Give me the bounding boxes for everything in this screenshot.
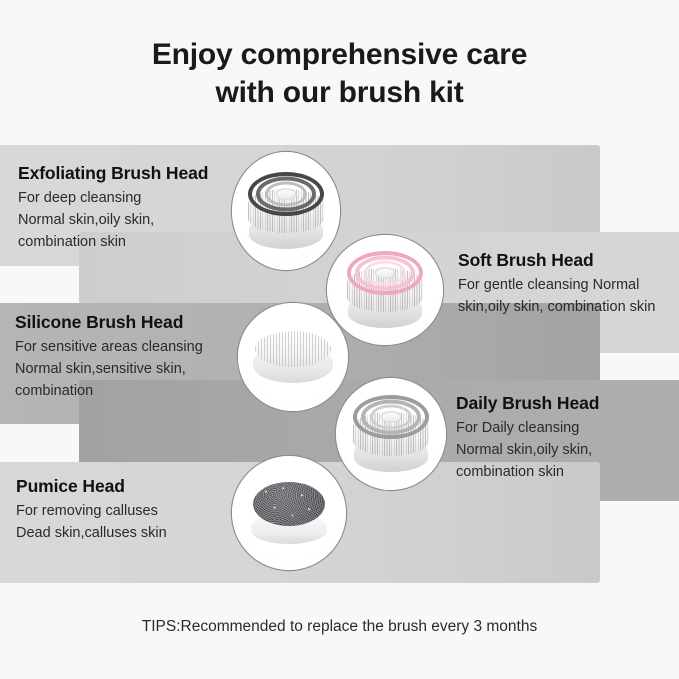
tips-text: TIPS:Recommended to replace the brush ev… xyxy=(0,618,679,636)
soft-brush-icon xyxy=(344,252,426,328)
pumice-stone-icon xyxy=(247,482,331,544)
product-desc-line: combination skin xyxy=(18,231,208,253)
photo-inner xyxy=(238,303,348,411)
product-desc-daily: For Daily cleansing Normal skin,oily ski… xyxy=(456,417,599,483)
brush-ring-stack xyxy=(251,175,321,213)
page-title-line-1: Enjoy comprehensive care xyxy=(0,36,679,74)
product-title-soft: Soft Brush Head xyxy=(458,250,655,271)
silicone-pad-icon xyxy=(251,329,335,385)
product-title-daily: Daily Brush Head xyxy=(456,393,599,414)
product-desc-soft: For gentle cleansing Normal skin,oily sk… xyxy=(458,274,655,318)
product-desc-line: combination xyxy=(15,380,203,402)
product-desc-line: For gentle cleansing Normal xyxy=(458,274,655,296)
product-desc-line: skin,oily skin, combination skin xyxy=(458,296,655,318)
product-desc-line: combination skin xyxy=(456,461,599,483)
page-title: Enjoy comprehensive care with our brush … xyxy=(0,36,679,113)
card-text-exfoliating: Exfoliating Brush Head For deep cleansin… xyxy=(18,163,208,253)
product-desc-line: Normal skin,sensitive skin, xyxy=(15,358,203,380)
soft-brush-head-photo xyxy=(327,235,443,345)
product-desc-silicone: For sensitive areas cleansing Normal ski… xyxy=(15,336,203,402)
brush-hub xyxy=(375,267,396,279)
product-desc-pumice: For removing calluses Dead skin,calluses… xyxy=(16,500,167,544)
pumice-stone xyxy=(253,482,325,526)
brush-ring-stack xyxy=(356,398,426,436)
product-desc-line: Normal skin,oily skin, xyxy=(18,209,208,231)
brush-hub xyxy=(381,411,402,423)
daily-brush-icon xyxy=(350,396,432,472)
card-text-pumice: Pumice Head For removing calluses Dead s… xyxy=(16,476,167,544)
product-title-pumice: Pumice Head xyxy=(16,476,167,497)
product-desc-line: Dead skin,calluses skin xyxy=(16,522,167,544)
photo-inner xyxy=(336,378,446,490)
photo-inner xyxy=(232,152,340,270)
silicone-fingers xyxy=(255,331,331,367)
photo-inner xyxy=(232,456,346,570)
card-text-soft: Soft Brush Head For gentle cleansing Nor… xyxy=(458,250,655,318)
product-desc-line: For sensitive areas cleansing xyxy=(15,336,203,358)
product-desc-exfoliating: For deep cleansing Normal skin,oily skin… xyxy=(18,187,208,253)
daily-brush-head-photo xyxy=(336,378,446,490)
card-text-daily: Daily Brush Head For Daily cleansing Nor… xyxy=(456,393,599,483)
brush-kit-infographic: Enjoy comprehensive care with our brush … xyxy=(0,0,679,679)
exfoliating-brush-head-photo xyxy=(232,152,340,270)
product-desc-line: Normal skin,oily skin, xyxy=(456,439,599,461)
brush-ring-stack xyxy=(350,254,420,292)
exfoliating-brush-icon xyxy=(245,173,327,249)
product-desc-line: For Daily cleansing xyxy=(456,417,599,439)
product-title-exfoliating: Exfoliating Brush Head xyxy=(18,163,208,184)
product-desc-line: For removing calluses xyxy=(16,500,167,522)
page-title-line-2: with our brush kit xyxy=(0,74,679,112)
silicone-brush-head-photo xyxy=(238,303,348,411)
photo-inner xyxy=(327,235,443,345)
product-desc-line: For deep cleansing xyxy=(18,187,208,209)
brush-hub xyxy=(276,188,297,200)
product-title-silicone: Silicone Brush Head xyxy=(15,312,203,333)
pumice-head-photo xyxy=(232,456,346,570)
card-text-silicone: Silicone Brush Head For sensitive areas … xyxy=(15,312,203,402)
